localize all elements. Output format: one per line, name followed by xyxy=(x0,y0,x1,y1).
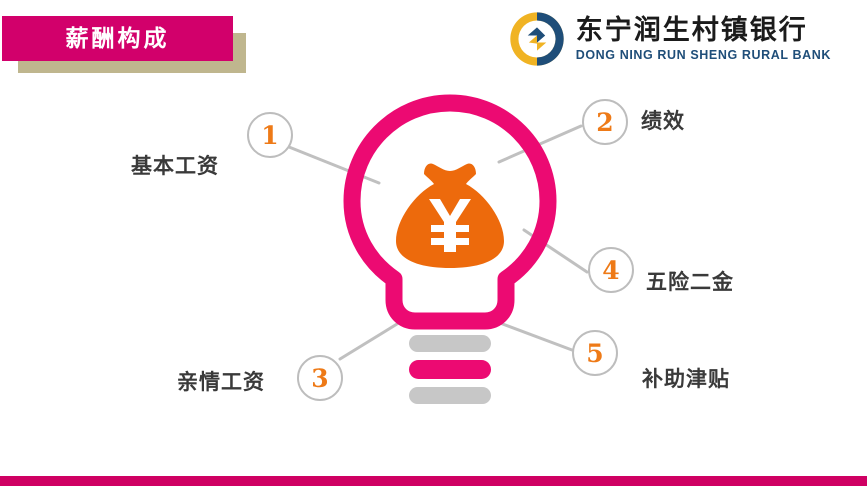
bulb-base-bar-1 xyxy=(409,335,491,352)
item-badge-2[interactable]: 2 xyxy=(582,99,628,145)
item-label-5: 补助津贴 xyxy=(642,369,730,390)
item-number-4: 4 xyxy=(602,258,619,283)
item-number-2: 2 xyxy=(596,110,613,135)
item-badge-1[interactable]: 1 xyxy=(247,112,293,158)
title-banner: 薪酬构成 xyxy=(2,16,233,61)
bank-logo-text: 东宁润生村镇银行 DONG NING RUN SHENG RURAL BANK xyxy=(576,17,831,62)
footer-accent-bar xyxy=(0,476,867,486)
slide-canvas: 薪酬构成 东宁润生村镇银行 DONG NING RUN SHENG RURAL … xyxy=(0,0,867,486)
item-label-3: 亲情工资 xyxy=(177,372,265,393)
lightbulb-icon xyxy=(352,103,548,404)
item-number-5: 5 xyxy=(586,341,603,366)
bank-emblem-icon xyxy=(508,10,566,68)
connector-line-3 xyxy=(340,324,397,359)
item-badge-5[interactable]: 5 xyxy=(572,330,618,376)
connector-line-4 xyxy=(524,230,587,272)
item-number-3: 3 xyxy=(311,366,328,391)
connector-line-5 xyxy=(500,323,572,350)
item-label-1: 基本工资 xyxy=(131,156,219,177)
money-bag-icon xyxy=(396,164,504,268)
yen-symbol xyxy=(429,199,471,252)
page-title: 薪酬构成 xyxy=(66,27,170,50)
connector-line-2 xyxy=(499,126,581,162)
bulb-base-bar-2 xyxy=(409,360,491,379)
item-badge-3[interactable]: 3 xyxy=(297,355,343,401)
connector-line-1 xyxy=(289,147,379,183)
connector-lines xyxy=(289,126,587,359)
bulb-base-bar-3 xyxy=(409,387,491,404)
item-badge-4[interactable]: 4 xyxy=(588,247,634,293)
bank-logo: 东宁润生村镇银行 DONG NING RUN SHENG RURAL BANK xyxy=(508,10,831,68)
item-number-1: 1 xyxy=(261,123,278,148)
item-label-4: 五险二金 xyxy=(646,272,734,293)
bank-name-chinese: 东宁润生村镇银行 xyxy=(576,17,831,44)
item-label-2: 绩效 xyxy=(641,111,685,132)
bank-name-english: DONG NING RUN SHENG RURAL BANK xyxy=(576,49,831,62)
